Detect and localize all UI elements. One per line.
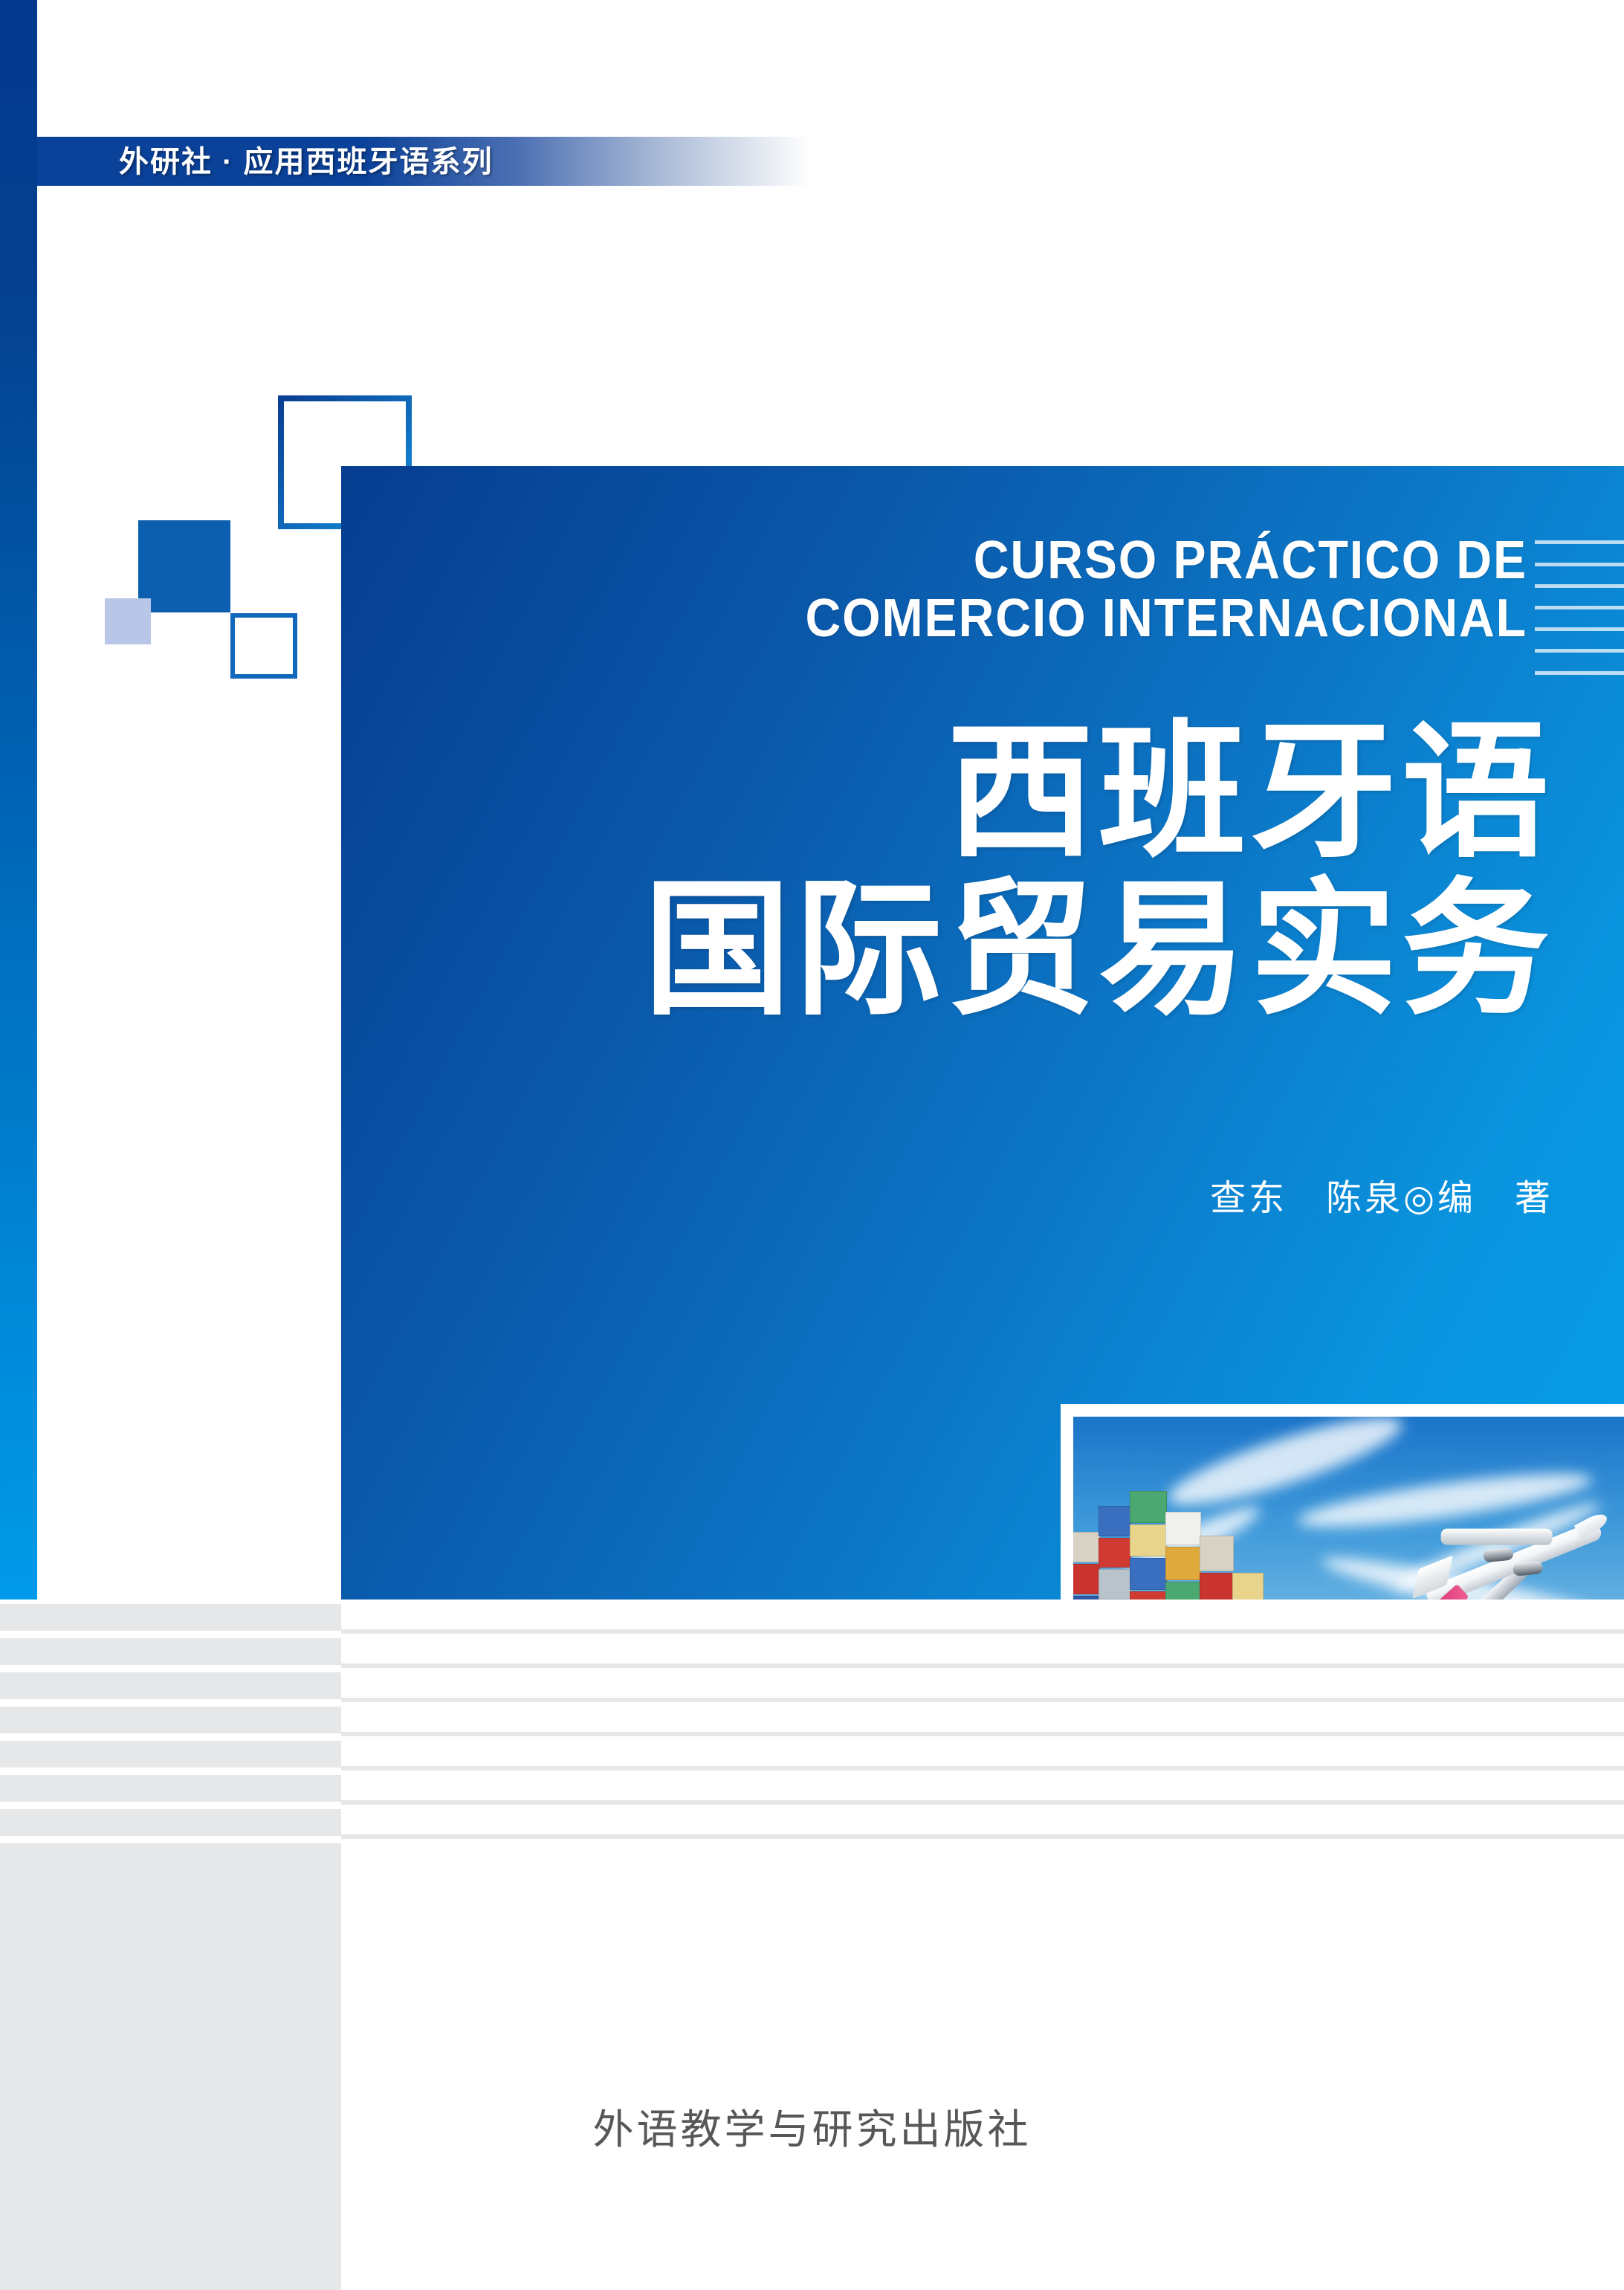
shipping-container xyxy=(1200,1536,1234,1571)
decorative-rules xyxy=(1535,540,1624,689)
stripe-band-left xyxy=(0,1775,341,1802)
chinese-title-line-2: 国际贸易实务 xyxy=(446,871,1553,1029)
stripe-band-left xyxy=(0,1707,341,1733)
chinese-title-line-1: 西班牙语 xyxy=(446,714,1553,871)
series-banner-label: 外研社 · 应用西班牙语系列 xyxy=(119,140,494,184)
square-solid-icon xyxy=(138,520,230,612)
publisher-name: 外语教学与研究出版社 xyxy=(0,2096,1624,2155)
stripe-rule-right xyxy=(341,1800,1624,1805)
shipping-container xyxy=(1130,1491,1167,1523)
shipping-container xyxy=(1130,1524,1167,1556)
shipping-container xyxy=(1099,1506,1131,1536)
shipping-container xyxy=(1165,1547,1201,1580)
shipping-container xyxy=(1073,1532,1100,1562)
spanish-title: CURSO PRÁCTICO DE COMERCIO INTERNACIONAL xyxy=(505,531,1527,647)
left-gradient-bar xyxy=(0,0,37,1600)
stripe-rule-right xyxy=(341,1766,1624,1770)
stripe-band-left xyxy=(0,1809,341,1836)
stripe-rule-right xyxy=(341,1834,1624,1839)
stripe-band-left-tall xyxy=(0,1843,341,2290)
stripe-band-left xyxy=(0,1604,341,1631)
page-title: 西班牙语 国际贸易实务 xyxy=(446,714,1553,1029)
stripe-rule-right xyxy=(341,1663,1624,1668)
shipping-container xyxy=(1099,1538,1131,1568)
stripe-rule-right xyxy=(341,1629,1624,1634)
shipping-container xyxy=(1073,1564,1100,1594)
book-cover: 外研社 · 应用西班牙语系列 CURSO PRÁCTICO DE COMERCI… xyxy=(0,0,1624,2290)
shipping-container xyxy=(1165,1512,1201,1545)
stripe-band-left xyxy=(0,1741,341,1767)
stripe-rule-right xyxy=(341,1732,1624,1736)
spanish-title-line-2: COMERCIO INTERNACIONAL xyxy=(505,589,1527,647)
shipping-container xyxy=(1099,1569,1131,1600)
stripe-rule-right xyxy=(341,1698,1624,1702)
author-line: 查东 陈泉◎编 著 xyxy=(818,1168,1553,1220)
spanish-title-line-1: CURSO PRÁCTICO DE xyxy=(505,531,1527,589)
bottom-stripe-field xyxy=(0,1600,1624,2290)
square-lavender-icon xyxy=(105,598,151,644)
stripe-band-left xyxy=(0,1672,341,1699)
square-outline-small-icon xyxy=(230,613,297,679)
shipping-container xyxy=(1130,1558,1167,1590)
stripe-band-left xyxy=(0,1638,341,1665)
